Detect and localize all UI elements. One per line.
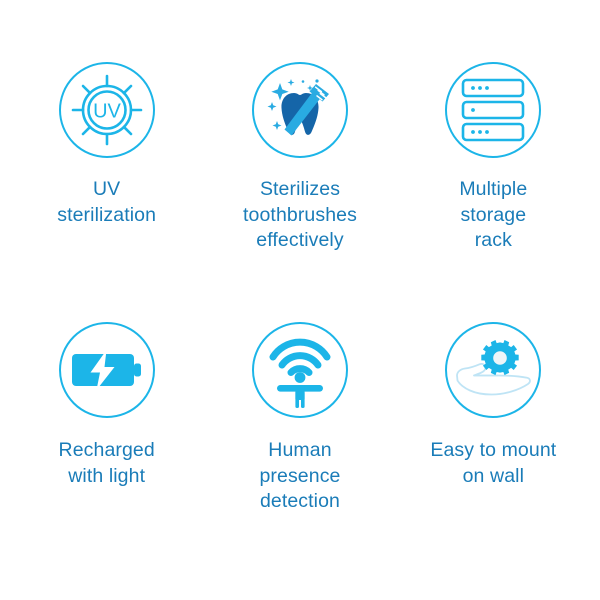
hand-gear-icon [445,322,541,418]
feature-card-easy-to-mount-on-wall[interactable]: Easy to mount on wall [397,322,590,582]
feature-label-sterilizes-toothbrushes: Sterilizes toothbrushes effectively [243,177,357,254]
feature-label-recharged-with-light: Recharged with light [59,438,155,489]
rack-indicator-dots [471,86,489,134]
feature-card-multiple-storage-rack[interactable]: Multiple storage rack [397,62,590,322]
feature-label-multiple-storage-rack: Multiple storage rack [459,177,527,254]
uv-sun-icon: UV [59,62,155,158]
feature-card-uv-sterilization[interactable]: UV UV sterilization [10,62,203,322]
tooth-toothbrush-sparkle-icon [252,62,348,158]
battery-terminal [134,364,141,377]
feature-card-human-presence-detection[interactable]: Human presence detection [203,322,396,582]
person-shape [277,372,323,408]
gear-shape [482,340,519,375]
feature-grid: UV UV sterilization [0,0,600,600]
signal-arcs [273,342,327,372]
feature-label-easy-to-mount-on-wall: Easy to mount on wall [430,438,556,489]
storage-rack-icon [445,62,541,158]
feature-card-recharged-with-light[interactable]: Recharged with light [10,322,203,582]
person-signal-icon [252,322,348,418]
feature-label-human-presence-detection: Human presence detection [259,438,340,515]
feature-label-uv-sterilization: UV sterilization [57,177,156,228]
battery-bolt-icon [59,322,155,418]
uv-icon-text: UV [93,101,121,123]
feature-card-sterilizes-toothbrushes[interactable]: Sterilizes toothbrushes effectively [203,62,396,322]
